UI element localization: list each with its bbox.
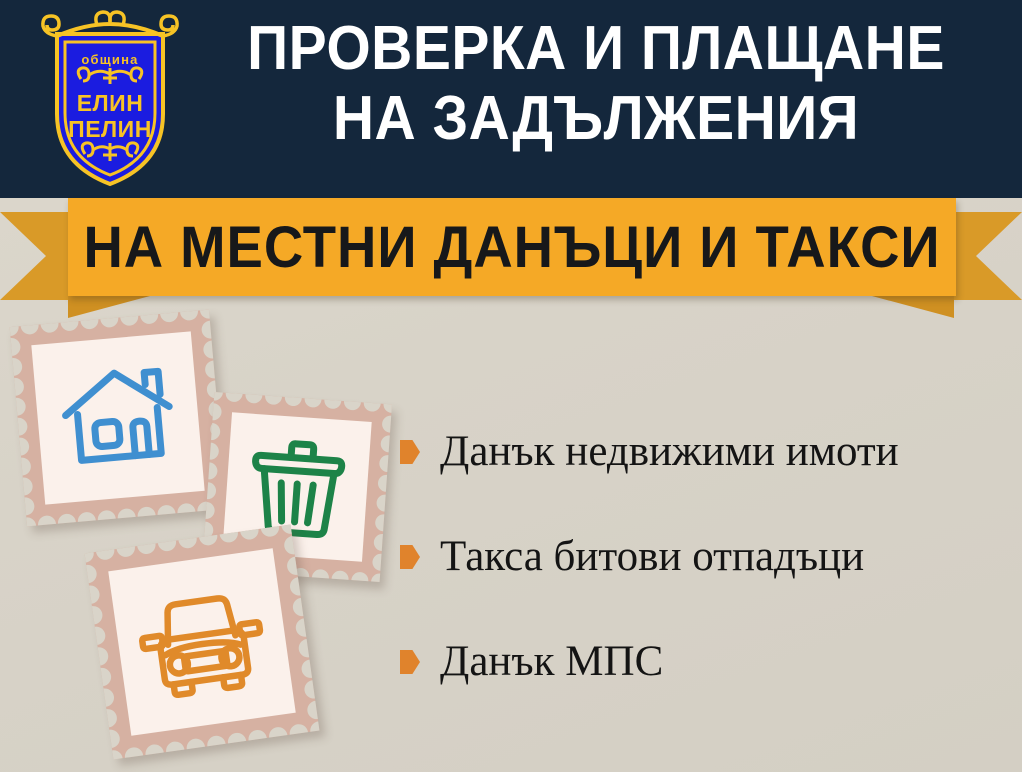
arrow-bullet-icon xyxy=(400,545,420,569)
tax-type-list: Данък недвижими имоти Такса битови отпад… xyxy=(400,428,1010,686)
ribbon-fold-left xyxy=(68,296,150,318)
list-item[interactable]: Данък МПС xyxy=(400,638,1010,686)
ribbon-label: НА МЕСТНИ ДАНЪЦИ И ТАКСИ xyxy=(95,198,930,296)
list-item[interactable]: Данък недвижими имоти xyxy=(400,428,1010,476)
arrow-bullet-icon xyxy=(400,650,420,674)
stamp-inner-car xyxy=(108,548,295,735)
svg-text:ПЕЛИН: ПЕЛИН xyxy=(68,116,152,142)
stamp-house xyxy=(10,310,227,527)
page-title: ПРОВЕРКА И ПЛАЩАНЕ НА ЗАДЪЛЖЕНИЯ xyxy=(190,14,1002,154)
title-line-2: НА ЗАДЪЛЖЕНИЯ xyxy=(222,84,969,154)
house-icon xyxy=(53,358,182,478)
list-item-label: Такса битови отпадъци xyxy=(440,533,864,581)
list-item-label: Данък недвижими имоти xyxy=(440,428,899,476)
coat-of-arms-icon: община ЕЛИН ПЕЛИН xyxy=(35,8,185,190)
ribbon-band: НА МЕСТНИ ДАНЪЦИ И ТАКСИ xyxy=(68,198,956,296)
subtitle-ribbon: НА МЕСТНИ ДАНЪЦИ И ТАКСИ xyxy=(0,198,1022,310)
stamp-inner-house xyxy=(31,331,204,504)
ribbon-fold-right xyxy=(872,296,954,318)
car-front-icon xyxy=(131,580,273,705)
list-item[interactable]: Такса битови отпадъци xyxy=(400,533,1010,581)
svg-text:ЕЛИН: ЕЛИН xyxy=(77,90,144,116)
poster-canvas: община ЕЛИН ПЕЛИН xyxy=(0,0,1022,772)
header-bar: община ЕЛИН ПЕЛИН xyxy=(0,0,1022,198)
title-line-1: ПРОВЕРКА И ПЛАЩАНЕ xyxy=(222,14,969,84)
arrow-bullet-icon xyxy=(400,440,420,464)
svg-text:община: община xyxy=(81,52,138,67)
list-item-label: Данък МПС xyxy=(440,638,663,686)
municipality-logo: община ЕЛИН ПЕЛИН xyxy=(35,8,185,190)
header-content: община ЕЛИН ПЕЛИН xyxy=(0,0,1022,198)
trash-can-icon xyxy=(241,431,352,544)
stamp-car xyxy=(85,525,320,760)
